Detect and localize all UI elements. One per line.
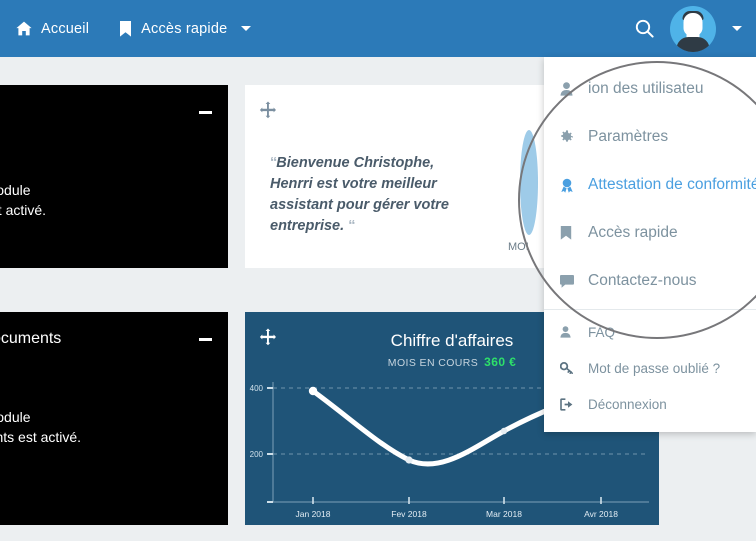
menu-item-label: ion des utilisateu	[588, 80, 703, 98]
nav-item-acces-rapide-label: Accès rapide	[141, 21, 227, 37]
chart-point-2	[501, 428, 507, 434]
menu-item-acces-rapide[interactable]: Accès rapide	[544, 209, 756, 257]
menu-item-label: Contactez-nous	[588, 272, 697, 290]
navbar-left-group: Accueil Accès rapide	[16, 21, 251, 37]
card-documents: ion des documents ns, votre module es do…	[0, 312, 228, 525]
card-documents-body: ns, votre module es documents est activé…	[0, 407, 81, 447]
menu-item-deconnexion[interactable]: Déconnexion	[544, 386, 756, 422]
menu-item-label: Paramètres	[588, 128, 668, 146]
menu-item-label: Mot de passe oublié ?	[588, 361, 720, 376]
top-navbar: Accueil Accès rapide	[0, 0, 756, 57]
card-documents-title: ion des documents	[0, 330, 61, 348]
welcome-message-text: Bienvenue Christophe, Henrri est votre m…	[270, 155, 449, 234]
home-icon	[16, 21, 32, 36]
user-icon	[560, 326, 580, 338]
ytick-200: 200	[250, 450, 264, 459]
nav-item-acces-rapide[interactable]: Accès rapide	[119, 21, 251, 37]
xtick-2: Mar 2018	[486, 509, 522, 519]
menu-item-faq[interactable]: FAQ	[544, 314, 756, 350]
logout-icon	[560, 398, 580, 411]
xtick-1: Fev 2018	[391, 509, 427, 519]
menu-item-label: FAQ	[588, 325, 615, 340]
bookmark-icon	[119, 21, 132, 37]
menu-item-label: Accès rapide	[588, 224, 678, 242]
card-documents-collapse-button[interactable]	[199, 338, 212, 341]
card-announcements-body: ns, votre module s Rivalis est activé.	[0, 180, 46, 220]
menu-item-attestation-conformite[interactable]: Attestation de conformité	[544, 161, 756, 209]
navbar-right-group	[635, 6, 742, 52]
xtick-0: Jan 2018	[296, 509, 331, 519]
chevron-down-icon[interactable]	[241, 26, 251, 31]
menu-item-parametres[interactable]: Paramètres	[544, 113, 756, 161]
menu-item-contactez-nous[interactable]: Contactez-nous	[544, 257, 756, 305]
key-icon	[560, 362, 580, 374]
card-announcements: ncements ns, votre module s Rivalis est …	[0, 85, 228, 268]
move-icon[interactable]	[259, 101, 277, 119]
menu-item-label: Déconnexion	[588, 397, 667, 412]
account-dropdown-menu: ion des utilisateu Paramètres Attestatio…	[544, 57, 756, 432]
menu-item-label: Attestation de conformité	[588, 176, 756, 194]
avatar-chevron-down-icon[interactable]	[732, 26, 742, 31]
search-icon[interactable]	[635, 19, 654, 38]
card-announcements-collapse-button[interactable]	[199, 111, 212, 114]
partial-moi-label: MOI	[508, 241, 529, 253]
chart-subtitle-amount: 360 €	[484, 355, 516, 369]
chart-point-0	[309, 387, 317, 395]
menu-item-mot-de-passe-oublie[interactable]: Mot de passe oublié ?	[544, 350, 756, 386]
xtick-3: Avr 2018	[584, 509, 618, 519]
app-root: Accueil Accès rapide	[0, 0, 756, 541]
chat-icon	[560, 275, 580, 288]
badge-icon	[560, 178, 580, 193]
ytick-400: 400	[250, 384, 264, 393]
welcome-message: “Bienvenue Christophe, Henrri est votre …	[270, 153, 460, 237]
avatar[interactable]	[670, 6, 716, 52]
bookmark-icon	[560, 226, 580, 240]
nav-item-accueil[interactable]: Accueil	[16, 21, 89, 37]
user-icon	[560, 82, 580, 96]
gear-icon	[560, 130, 580, 144]
chart-subtitle-label: MOIS EN COURS	[388, 357, 478, 369]
avatar-body	[677, 37, 710, 52]
menu-divider	[544, 309, 756, 310]
menu-item-gestion-utilisateurs[interactable]: ion des utilisateu	[544, 65, 756, 113]
nav-item-accueil-label: Accueil	[41, 21, 89, 37]
chart-point-1	[405, 456, 412, 463]
close-quote-icon: “	[348, 218, 354, 234]
